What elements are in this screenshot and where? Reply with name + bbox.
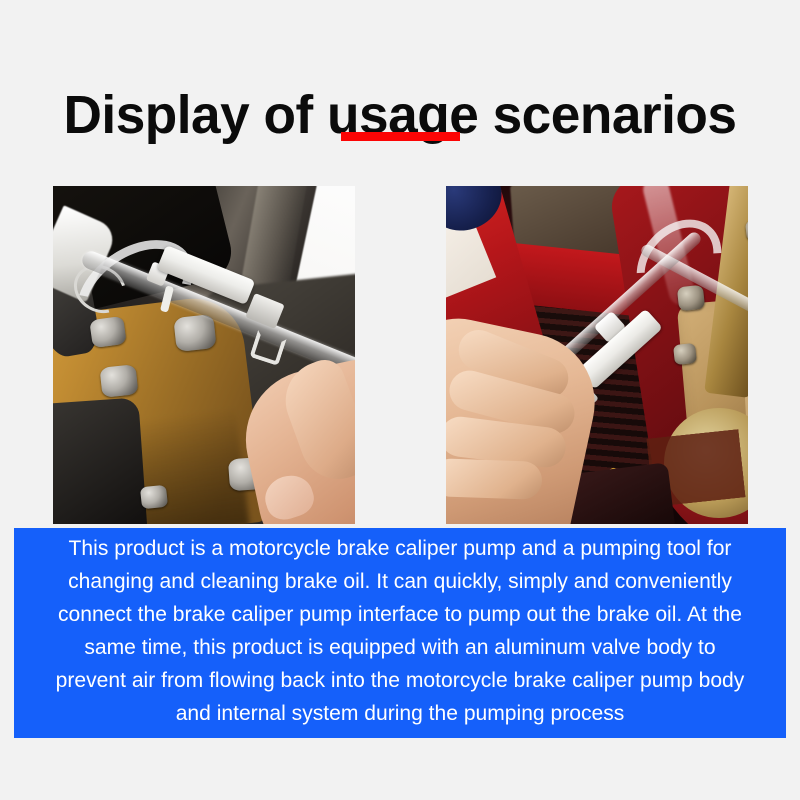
left-photo-caliper-bolt [140,485,168,510]
usage-photo-right [446,186,748,524]
left-photo-caliper-bolt [100,364,139,398]
title-underline-accent [341,132,460,141]
left-photo-scene [53,186,355,524]
usage-photo-gallery [13,170,788,508]
product-description-text: This product is a motorcycle brake calip… [47,532,753,730]
right-photo-scene [446,186,748,524]
left-photo-caliper-bolt [173,314,216,352]
right-photo-caliper-bolt [673,343,697,365]
product-description-panel: This product is a motorcycle brake calip… [14,528,786,738]
left-photo-lower-frame [53,397,148,524]
right-photo-finger [446,458,543,500]
usage-photo-left [53,186,355,524]
